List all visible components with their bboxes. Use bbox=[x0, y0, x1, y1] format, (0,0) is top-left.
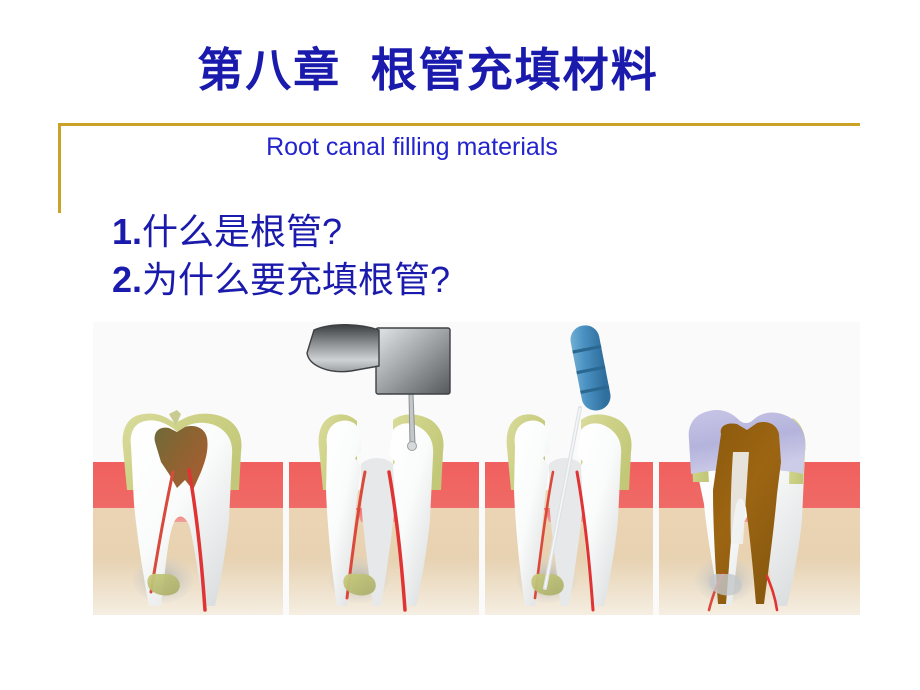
dental-stages-svg bbox=[93, 322, 860, 615]
question-number: 2. bbox=[112, 259, 142, 300]
list-item: 1.什么是根管? bbox=[112, 208, 712, 256]
handpiece-neck bbox=[307, 325, 379, 372]
page-title: 第八章 根管充填材料 bbox=[0, 40, 856, 100]
gold-divider-horizontal bbox=[58, 123, 860, 126]
question-list: 1.什么是根管? 2.为什么要充填根管? bbox=[112, 208, 712, 304]
page-subtitle: Root canal filling materials bbox=[62, 130, 762, 164]
gold-divider-vertical bbox=[58, 123, 61, 213]
question-text: 为什么要充填根管? bbox=[142, 259, 450, 300]
list-item: 2.为什么要充填根管? bbox=[112, 256, 712, 304]
question-text: 什么是根管? bbox=[142, 211, 342, 252]
question-number: 1. bbox=[112, 211, 142, 252]
bur-head bbox=[408, 442, 417, 451]
dental-treatment-illustration bbox=[93, 322, 860, 615]
handpiece-head bbox=[376, 328, 450, 394]
